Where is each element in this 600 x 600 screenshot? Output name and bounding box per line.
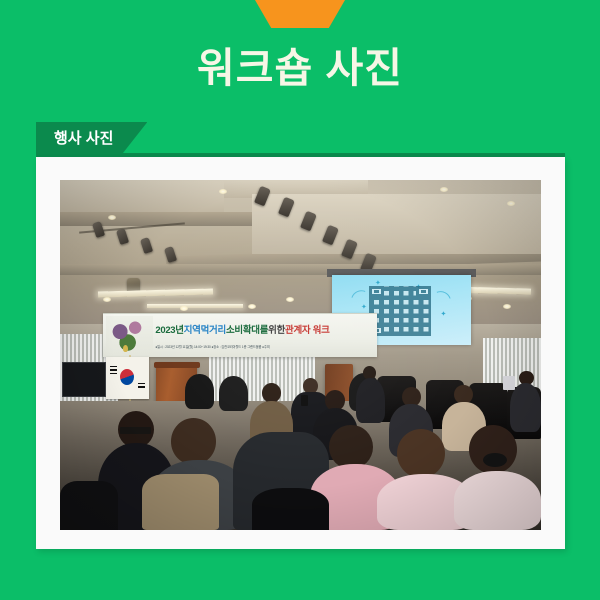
korean-flag: [106, 357, 149, 399]
qr-eye: [369, 286, 384, 297]
top-notch-accent: [255, 0, 345, 28]
section-tab-wrapper: 행사 사진: [36, 122, 147, 156]
flag-taegeuk: [120, 369, 134, 385]
downlight: [503, 304, 511, 309]
display-monitor: [62, 362, 105, 397]
chair-back: [252, 488, 329, 530]
photo-scene: ✦ ✦ ✦ ✦ 2023년 지역먹거리 소: [60, 180, 541, 530]
section-tab-label: 행사 사진: [36, 122, 147, 156]
event-banner: 2023년 지역먹거리 소비확대를 위한 관계자 워크 ●일시 : 2023년 …: [103, 313, 377, 357]
attendee: [356, 378, 385, 424]
sparkle-icon: ✦: [361, 304, 367, 311]
attendee: [510, 383, 541, 432]
podium-top: [154, 362, 200, 368]
qr-code: [369, 286, 430, 336]
sparkle-icon: ✦: [441, 311, 447, 318]
flag-trigram: [138, 383, 145, 385]
banner-title-part: 관계자 워크: [285, 322, 330, 336]
ceiling-panel: [252, 194, 541, 254]
banner-title-part: 소비확대를: [226, 322, 268, 336]
qr-eye: [416, 286, 431, 297]
coat-on-chair: [142, 474, 219, 530]
flag-trigram: [110, 366, 117, 368]
chair-back: [60, 481, 118, 530]
ceiling-light-trough: [147, 304, 243, 308]
page-title: 워크숍 사진: [0, 42, 600, 95]
attendee-head: [397, 429, 445, 478]
flag-trigram: [110, 373, 117, 375]
banner-title-part: 지역먹거리: [184, 322, 226, 336]
flag-trigram: [110, 369, 117, 371]
attendee-head: [329, 425, 372, 469]
banner-subtitle: ●일시 : 2023년 12월 11일(월) 14:00~19:30 ●장소 :…: [155, 341, 369, 351]
attendee: [454, 471, 541, 531]
banner-flower-decor: [106, 316, 153, 355]
attendee-head: [454, 385, 472, 404]
attendee: [219, 376, 248, 411]
workshop-audience-photo: ✦ ✦ ✦ ✦ 2023년 지역먹거리 소: [60, 180, 541, 530]
attendee-head: [262, 383, 281, 403]
ceiling-soffit: [60, 212, 252, 226]
photo-card: ✦ ✦ ✦ ✦ 2023년 지역먹거리 소: [36, 157, 565, 549]
page-root: 워크숍 사진 행사 사진: [0, 0, 600, 600]
banner-title: 2023년 지역먹거리 소비확대를 위한 관계자 워크: [155, 317, 374, 341]
banner-title-part: 2023년: [155, 322, 183, 336]
eyeglasses-icon: [120, 427, 151, 434]
phone-icon: [503, 376, 516, 390]
downlight: [219, 189, 227, 194]
downlight: [440, 187, 448, 192]
banner-title-part: 위한: [268, 322, 285, 336]
attendee: [185, 374, 214, 409]
downlight: [248, 304, 256, 309]
ceiling-panel: [60, 180, 224, 212]
microphone-icon: [301, 395, 308, 406]
flag-trigram: [138, 386, 145, 388]
